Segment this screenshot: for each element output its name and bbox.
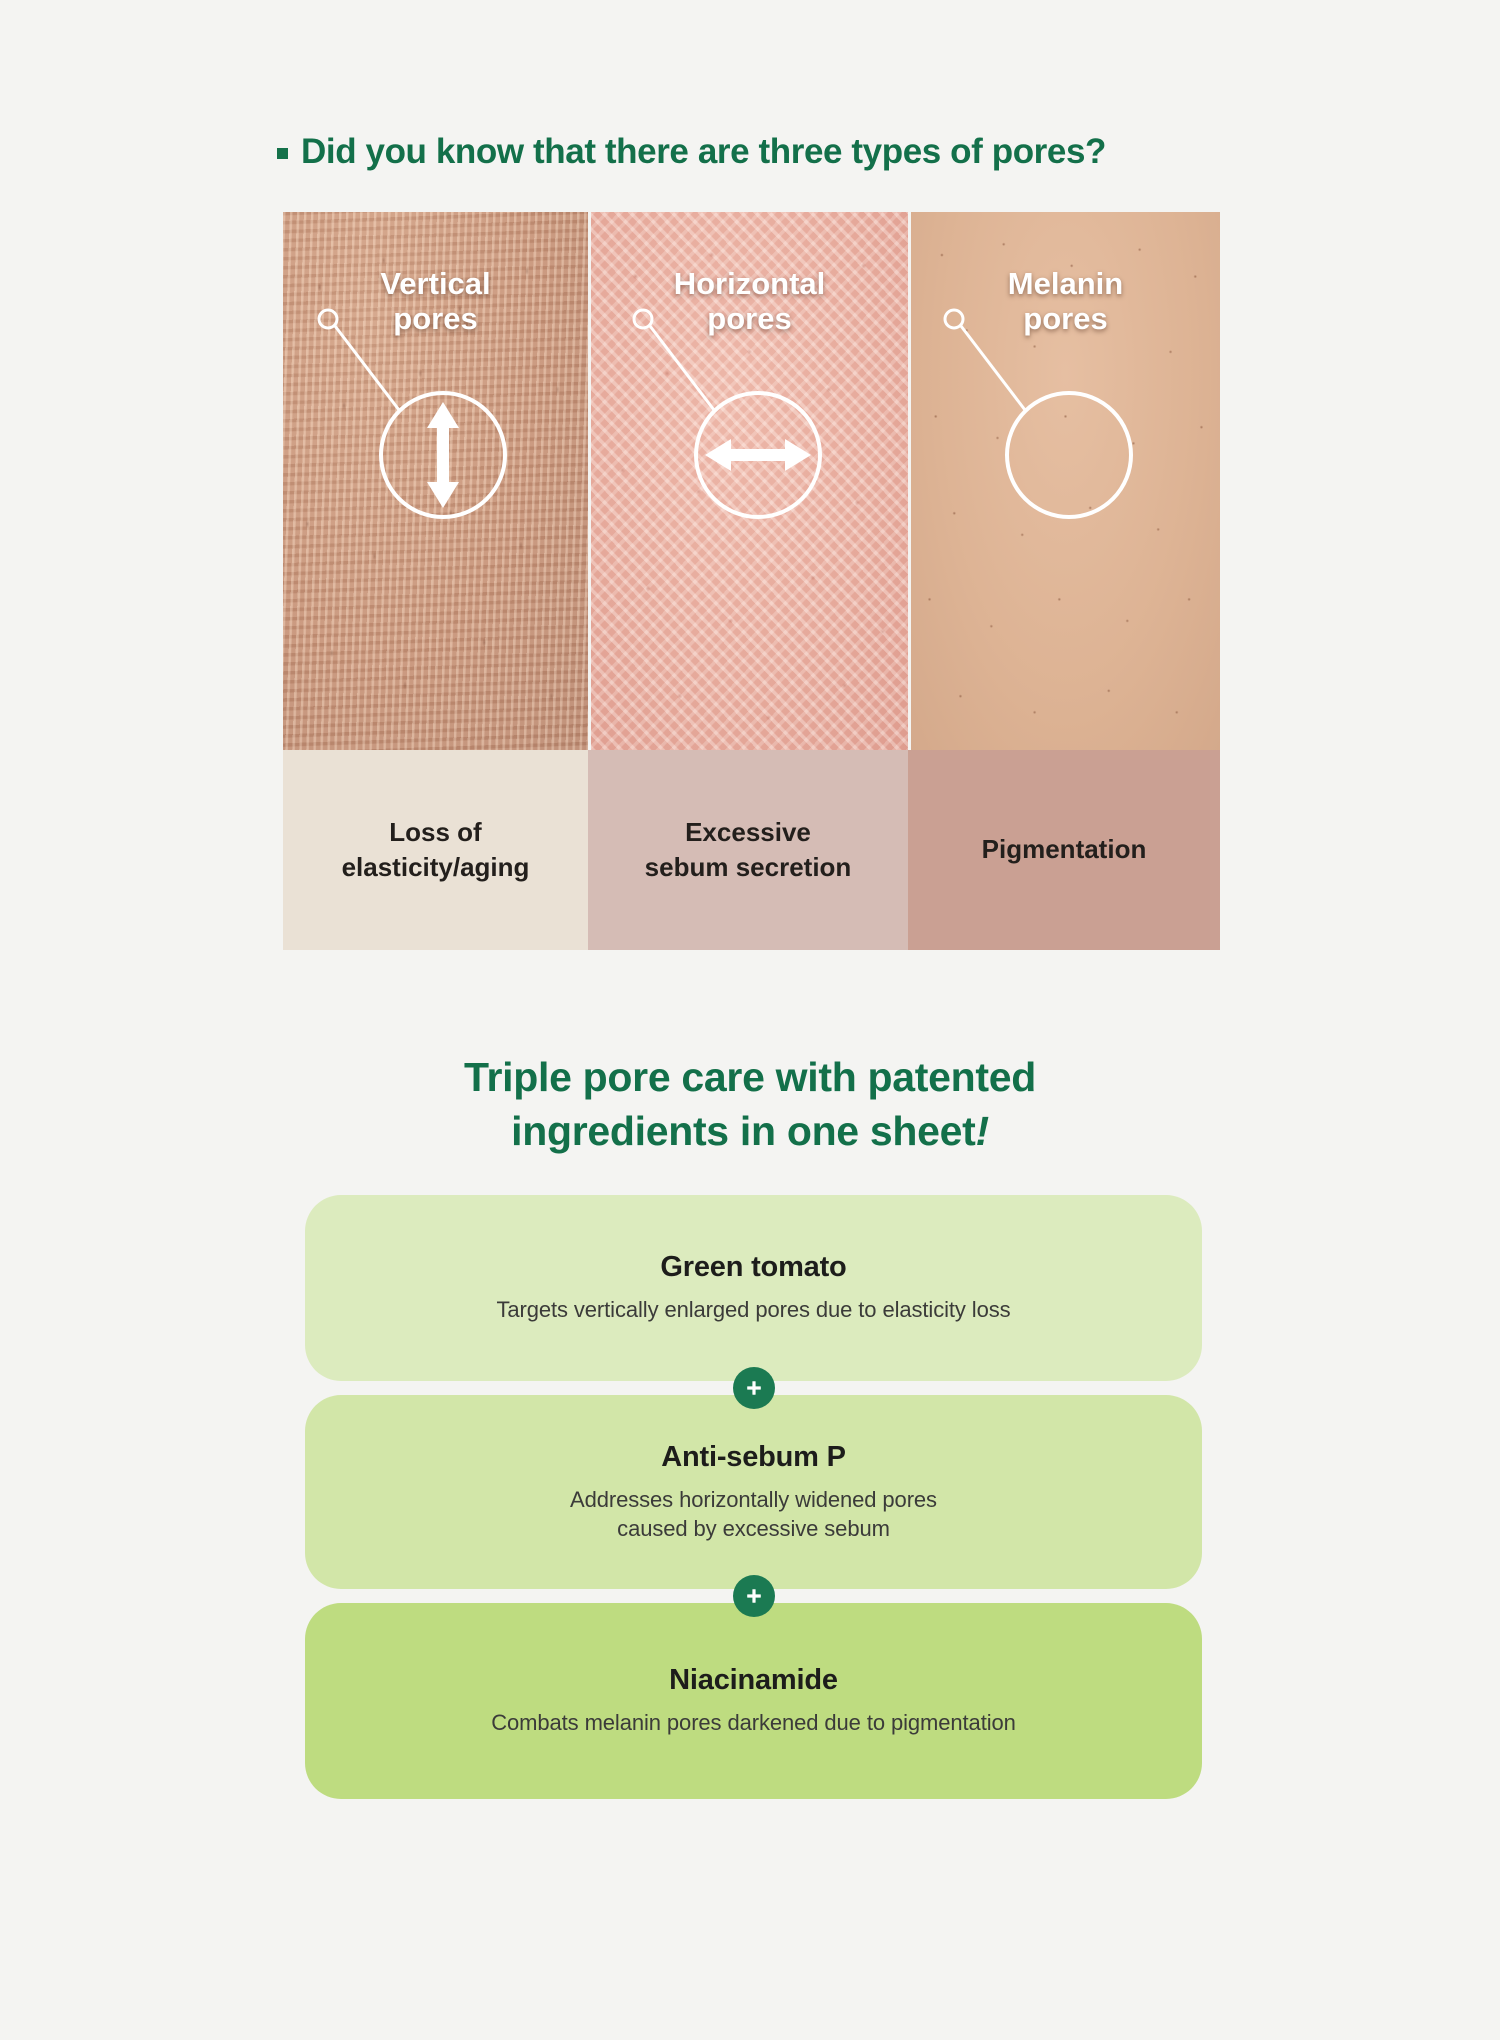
ingredient-card-niacinamide[interactable]: Niacinamide Combats melanin pores darken… xyxy=(305,1603,1202,1799)
pore-panel-horizontal: Horizontal pores xyxy=(591,212,908,750)
connector-gap xyxy=(305,1589,1202,1603)
ingredient-description-line1: Combats melanin pores darkened due to pi… xyxy=(491,1708,1016,1737)
pore-types-board: Vertical pores Horizontal xyxy=(283,212,1220,950)
pore-caption-row: Loss of elasticity/aging Excessive sebum… xyxy=(283,750,1220,950)
promo-title-line2-wrap: ingredients in one sheet! xyxy=(0,1104,1500,1158)
promo-title-exclamation: ! xyxy=(976,1108,989,1154)
section-heading: Did you know that there are three types … xyxy=(277,132,1106,172)
pore-caption-horizontal: Excessive sebum secretion xyxy=(588,750,908,950)
promo-title-line2: ingredients in one sheet xyxy=(511,1108,975,1154)
pore-panel-vertical: Vertical pores xyxy=(283,212,588,750)
ingredient-description: Addresses horizontally widened pores cau… xyxy=(570,1485,937,1544)
connector-gap xyxy=(305,1381,1202,1395)
ingredient-name: Niacinamide xyxy=(669,1664,838,1697)
promo-title: Triple pore care with patented ingredien… xyxy=(0,1050,1500,1158)
promo-title-line1: Triple pore care with patented xyxy=(0,1050,1500,1104)
pore-caption-line1: Loss of xyxy=(342,815,530,850)
section-heading-text: Did you know that there are three types … xyxy=(301,132,1106,172)
ingredient-description-line1: Addresses horizontally widened pores xyxy=(570,1485,937,1514)
pore-caption-line2: elasticity/aging xyxy=(342,850,530,885)
ingredient-card-green-tomato[interactable]: Green tomato Targets vertically enlarged… xyxy=(305,1195,1202,1381)
ingredient-card-anti-sebum-p[interactable]: Anti-sebum P Addresses horizontally wide… xyxy=(305,1395,1202,1589)
pore-caption-melanin: Pigmentation xyxy=(908,750,1220,950)
ingredient-name: Anti-sebum P xyxy=(661,1441,846,1474)
pore-caption-line1: Pigmentation xyxy=(982,832,1147,867)
horizontal-double-arrow-icon xyxy=(591,212,908,750)
pore-panel-melanin: Melanin pores xyxy=(911,212,1220,750)
empty-magnifier-icon xyxy=(911,212,1220,750)
ingredient-description-line1: Targets vertically enlarged pores due to… xyxy=(496,1295,1010,1324)
pore-caption-line2: sebum secretion xyxy=(645,850,852,885)
ingredient-name: Green tomato xyxy=(660,1251,846,1284)
ingredient-description: Targets vertically enlarged pores due to… xyxy=(496,1295,1010,1324)
vertical-double-arrow-icon xyxy=(283,212,588,750)
square-bullet-icon xyxy=(277,148,288,159)
plus-icon xyxy=(733,1575,775,1617)
infographic-page: Did you know that there are three types … xyxy=(0,0,1500,2040)
pore-photo-row: Vertical pores Horizontal xyxy=(283,212,1220,750)
pore-caption-vertical: Loss of elasticity/aging xyxy=(283,750,588,950)
ingredient-list: Green tomato Targets vertically enlarged… xyxy=(305,1195,1202,1799)
plus-icon xyxy=(733,1367,775,1409)
pore-caption-line1: Excessive xyxy=(645,815,852,850)
ingredient-description-line2: caused by excessive sebum xyxy=(570,1514,937,1543)
ingredient-description: Combats melanin pores darkened due to pi… xyxy=(491,1708,1016,1737)
